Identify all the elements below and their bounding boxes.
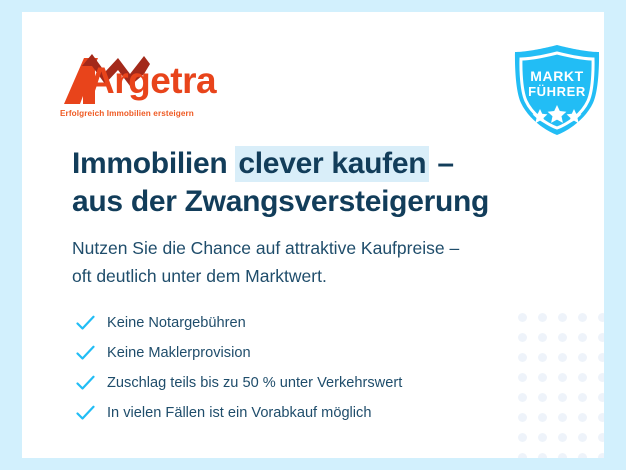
subheading-line-1: Nutzen Sie die Chance auf attraktive Kau… (72, 234, 572, 262)
grid-dot (558, 353, 567, 362)
grid-dot (598, 393, 604, 402)
grid-dot (578, 433, 587, 442)
grid-dot (598, 333, 604, 342)
grid-dot (578, 413, 587, 422)
grid-dot (578, 453, 587, 458)
list-item: In vielen Fällen ist ein Vorabkauf mögli… (72, 398, 542, 428)
grid-dot (518, 433, 527, 442)
list-item: Keine Maklerprovision (72, 338, 542, 368)
grid-dot (578, 393, 587, 402)
grid-dot (558, 333, 567, 342)
grid-dot (558, 413, 567, 422)
check-icon (76, 375, 95, 391)
grid-dot (578, 333, 587, 342)
subheading-line-2: oft deutlich unter dem Marktwert. (72, 262, 572, 290)
list-item: Keine Notargebühren (72, 308, 542, 338)
check-icon (76, 405, 95, 421)
list-item-label: In vielen Fällen ist ein Vorabkauf mögli… (107, 405, 371, 421)
subheading: Nutzen Sie die Chance auf attraktive Kau… (72, 234, 572, 291)
grid-dot (578, 373, 587, 382)
list-item-label: Keine Notargebühren (107, 315, 246, 331)
grid-dot (558, 373, 567, 382)
grid-dot (598, 353, 604, 362)
check-icon (76, 345, 95, 361)
grid-dot (518, 453, 527, 458)
list-item-label: Zuschlag teils bis zu 50 % unter Verkehr… (107, 375, 402, 391)
grid-dot (538, 433, 547, 442)
badge-line-2: FÜHRER (507, 84, 604, 99)
list-item-label: Keine Maklerprovision (107, 345, 251, 361)
grid-dot (558, 453, 567, 458)
check-icon (76, 315, 95, 331)
grid-dot (538, 453, 547, 458)
headline-line-2: aus der Zwangsversteigerung (72, 183, 582, 221)
headline-line-1: Immobilien clever kaufen – (72, 145, 582, 183)
grid-dot (558, 313, 567, 322)
grid-dot (558, 433, 567, 442)
grid-dot (558, 393, 567, 402)
argetra-logo[interactable]: Argetra Erfolgreich Immobilien ersteiger… (58, 46, 218, 124)
grid-dot (598, 313, 604, 322)
grid-dot (598, 453, 604, 458)
page-title: Immobilien clever kaufen – aus der Zwang… (72, 145, 582, 221)
headline-after: – (429, 147, 453, 180)
headline-highlight: clever kaufen (235, 146, 429, 182)
grid-dot (578, 353, 587, 362)
benefits-list: Keine Notargebühren Keine Maklerprovisio… (72, 308, 542, 428)
grid-dot (578, 313, 587, 322)
headline-before: Immobilien (72, 147, 235, 180)
badge-line-1: MARKT (507, 68, 604, 84)
logo-tagline: Erfolgreich Immobilien ersteigern (60, 109, 194, 118)
grid-dot (598, 433, 604, 442)
promo-card: Argetra Erfolgreich Immobilien ersteiger… (22, 12, 604, 458)
market-leader-badge: MARKT FÜHRER (507, 43, 604, 137)
grid-dot (598, 373, 604, 382)
list-item: Zuschlag teils bis zu 50 % unter Verkehr… (72, 368, 542, 398)
grid-dot (598, 413, 604, 422)
logo-wordmark: Argetra (88, 62, 216, 99)
